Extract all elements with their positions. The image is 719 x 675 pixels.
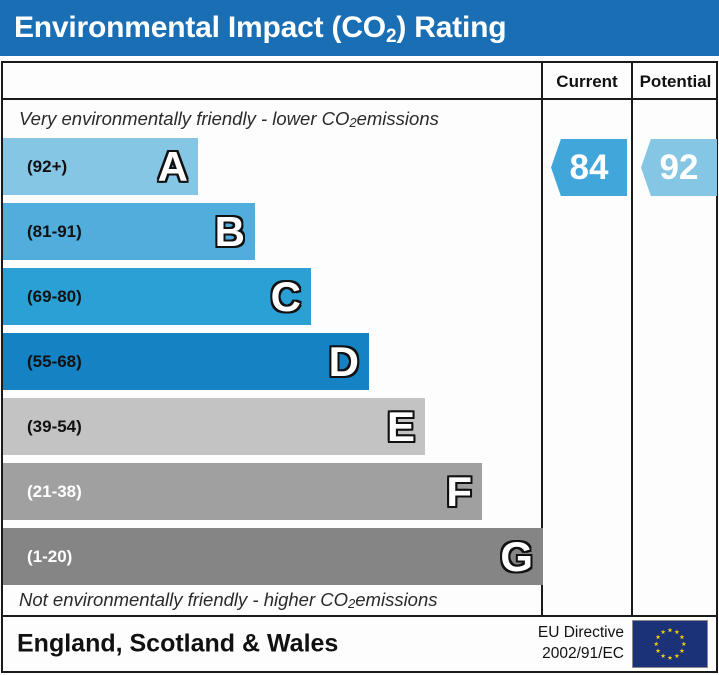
title-bar: Environmental Impact (CO2) Rating — [0, 0, 719, 58]
footer-region-label: England, Scotland & Wales — [17, 630, 338, 659]
note-top-prefix: Very environmentally friendly - lower CO — [19, 108, 349, 130]
band-area: Very environmentally friendly - lower CO… — [3, 100, 541, 617]
band-range-d: (55-68) — [27, 352, 82, 372]
page-title-suffix: ) Rating — [396, 11, 506, 44]
column-divider-potential-body — [631, 100, 633, 617]
band-letter-a: A — [158, 146, 188, 188]
footer-directive-line2: 2002/91/EC — [538, 644, 624, 665]
footer-directive-line1: EU Directive — [538, 623, 624, 644]
band-letter-f: F — [446, 471, 472, 513]
note-top-suffix: emissions — [357, 108, 439, 130]
potential-rating-badge: 92 — [641, 139, 717, 196]
band-letter-b: B — [215, 211, 245, 253]
note-bottom: Not environmentally friendly - higher CO… — [3, 581, 541, 618]
band-letter-g: G — [500, 536, 533, 578]
band-g: (1-20)G — [3, 528, 543, 585]
band-c: (69-80)C — [3, 268, 311, 325]
band-d: (55-68)D — [3, 333, 369, 390]
band-letter-d: D — [329, 341, 359, 383]
band-f: (21-38)F — [3, 463, 482, 520]
note-bottom-prefix: Not environmentally friendly - higher CO — [19, 589, 348, 611]
band-list: (92+)A(81-91)B(69-80)C(55-68)D(39-54)E(2… — [3, 138, 541, 593]
band-letter-e: E — [387, 406, 415, 448]
band-range-g: (1-20) — [27, 547, 72, 567]
band-letter-c: C — [271, 276, 301, 318]
column-header-potential: Potential — [633, 63, 718, 100]
footer: England, Scotland & Wales EU Directive 2… — [1, 617, 718, 673]
note-top: Very environmentally friendly - lower CO… — [3, 100, 541, 137]
footer-directive: EU Directive 2002/91/EC — [538, 623, 624, 665]
current-rating-badge: 84 — [551, 139, 627, 196]
band-range-f: (21-38) — [27, 482, 82, 502]
band-range-c: (69-80) — [27, 287, 82, 307]
band-a: (92+)A — [3, 138, 198, 195]
note-bottom-subscript: 2 — [348, 596, 355, 611]
band-range-a: (92+) — [27, 157, 67, 177]
rating-table: Current Potential Very environmentally f… — [1, 61, 718, 617]
band-range-b: (81-91) — [27, 222, 82, 242]
band-b: (81-91)B — [3, 203, 255, 260]
eu-flag-icon — [632, 620, 708, 668]
page-title: Environmental Impact (CO2) Rating — [14, 11, 506, 45]
epc-environmental-impact-certificate: Environmental Impact (CO2) Rating Curren… — [0, 0, 719, 675]
band-e: (39-54)E — [3, 398, 425, 455]
page-title-prefix: Environmental Impact (CO — [14, 11, 386, 44]
band-range-e: (39-54) — [27, 417, 82, 437]
table-header-row: Current Potential — [3, 63, 716, 100]
note-top-subscript: 2 — [349, 115, 356, 130]
page-title-subscript: 2 — [386, 26, 396, 47]
column-header-current: Current — [543, 63, 631, 100]
note-bottom-suffix: emissions — [355, 589, 437, 611]
